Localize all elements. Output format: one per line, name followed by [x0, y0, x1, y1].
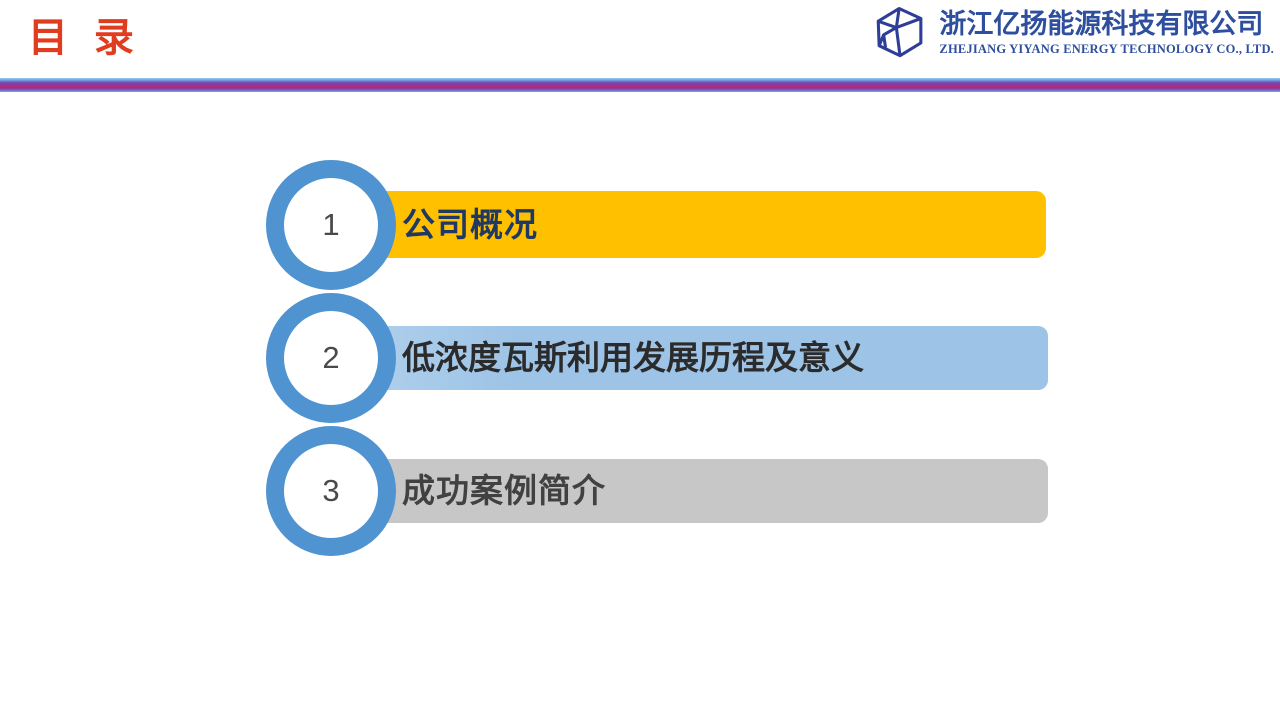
toc-bar-1[interactable]: 公司概况: [364, 191, 1046, 258]
toc-number-ring-2[interactable]: 2: [266, 293, 396, 423]
toc-bar-2[interactable]: 低浓度瓦斯利用发展历程及意义: [364, 326, 1048, 390]
toc-number-1: 1: [322, 208, 339, 242]
toc-number-ring-1[interactable]: 1: [266, 160, 396, 290]
page-title: 目 录: [28, 12, 140, 64]
brand-text: 浙江亿扬能源科技有限公司 ZHEJIANG YIYANG ENERGY TECH…: [939, 9, 1274, 57]
toc-label-3: 成功案例简介: [402, 471, 606, 511]
header-divider-bar: [0, 78, 1280, 92]
brand-name-cn: 浙江亿扬能源科技有限公司: [939, 9, 1263, 41]
toc-label-2: 低浓度瓦斯利用发展历程及意义: [402, 338, 864, 378]
toc-item-1[interactable]: 公司概况 1: [266, 160, 1056, 290]
toc-item-2[interactable]: 低浓度瓦斯利用发展历程及意义 2: [266, 293, 1056, 423]
brand-name-en: ZHEJIANG YIYANG ENERGY TECHNOLOGY CO., L…: [939, 41, 1274, 57]
toc-label-1: 公司概况: [402, 205, 538, 245]
brand-lockup: 浙江亿扬能源科技有限公司 ZHEJIANG YIYANG ENERGY TECH…: [871, 4, 1274, 62]
toc-number-2: 2: [322, 341, 339, 375]
toc-number-ring-3[interactable]: 3: [266, 426, 396, 556]
hexagon-crystal-logo-icon: [871, 4, 929, 62]
toc-ring-inner-3: 3: [284, 444, 378, 538]
toc-bar-3[interactable]: 成功案例简介: [364, 459, 1048, 523]
toc-item-3[interactable]: 成功案例简介 3: [266, 426, 1056, 556]
toc-number-3: 3: [322, 474, 339, 508]
toc-ring-inner-1: 1: [284, 178, 378, 272]
toc-ring-inner-2: 2: [284, 311, 378, 405]
table-of-contents: 公司概况 1 低浓度瓦斯利用发展历程及意义 2 成功案例简介 3: [0, 92, 1280, 720]
slide-header: 目 录 浙江亿扬能源科技有限公司 ZHEJIANG YIYANG ENERGY …: [0, 0, 1280, 78]
